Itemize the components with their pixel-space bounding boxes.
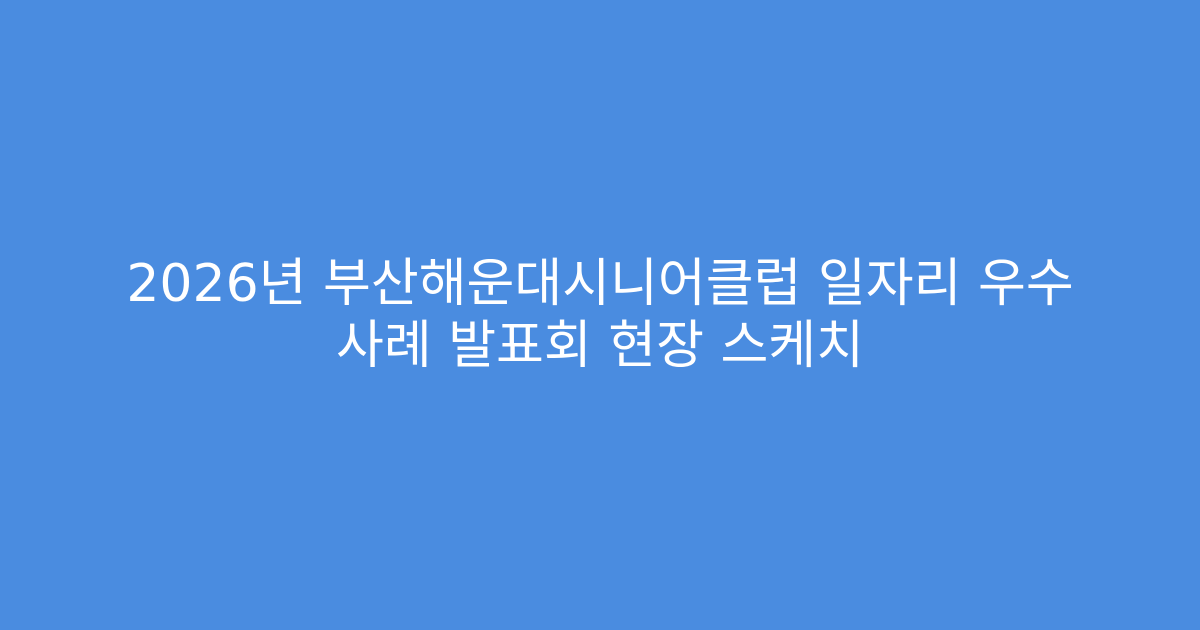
card-content-wrapper: 2026년 부산해운대시니어클럽 일자리 우수 사례 발표회 현장 스케치 [85,253,1115,377]
card-title: 2026년 부산해운대시니어클럽 일자리 우수 사례 발표회 현장 스케치 [85,253,1115,377]
social-share-card: 2026년 부산해운대시니어클럽 일자리 우수 사례 발표회 현장 스케치 [0,0,1200,630]
